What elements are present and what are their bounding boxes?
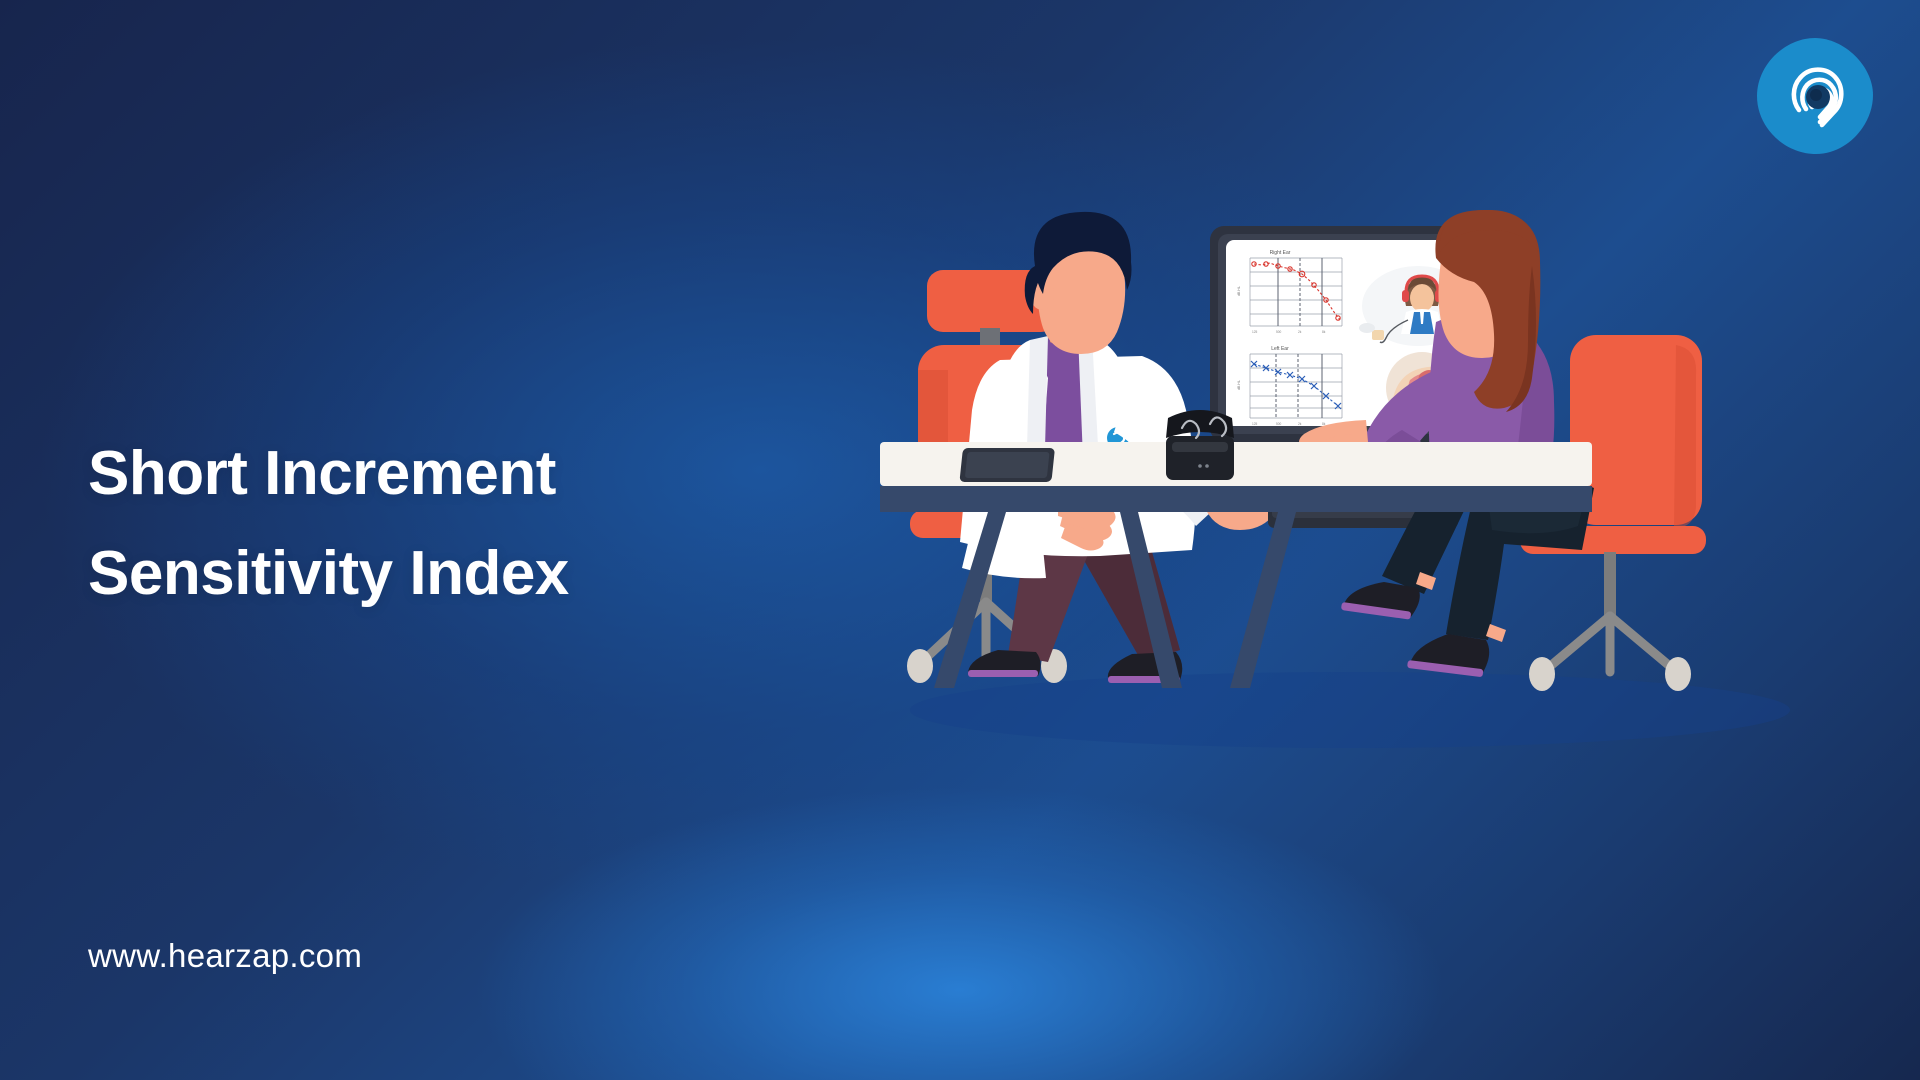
desk-edge bbox=[880, 486, 1592, 512]
svg-text:125: 125 bbox=[1252, 330, 1258, 334]
svg-text:dB HL: dB HL bbox=[1237, 380, 1241, 390]
tablet-device bbox=[959, 448, 1055, 482]
banner-root: Short Increment Sensitivity Index www.he… bbox=[0, 0, 1920, 1080]
svg-text:Right Ear: Right Ear bbox=[1270, 250, 1291, 256]
floor-shadow bbox=[910, 672, 1790, 748]
svg-text:dB HL: dB HL bbox=[1237, 286, 1241, 296]
svg-text:2k: 2k bbox=[1298, 330, 1302, 334]
page-title-line-2: Sensitivity Index bbox=[88, 524, 569, 624]
svg-text:Left Ear: Left Ear bbox=[1271, 346, 1289, 352]
svg-text:2k: 2k bbox=[1298, 422, 1302, 426]
website-url: www.hearzap.com bbox=[88, 937, 362, 975]
svg-text:500: 500 bbox=[1276, 422, 1282, 426]
hearzap-ear-logo bbox=[1752, 33, 1878, 159]
page-title-line-1: Short Increment bbox=[88, 439, 556, 508]
hearing-aid-charging-case bbox=[1166, 410, 1234, 480]
audiologist-consultation-scene: Right Ear bbox=[880, 210, 1840, 870]
svg-text:8k: 8k bbox=[1322, 330, 1326, 334]
svg-text:125: 125 bbox=[1252, 422, 1258, 426]
page-title: Short Increment Sensitivity Index bbox=[88, 424, 569, 625]
svg-text:500: 500 bbox=[1276, 330, 1282, 334]
